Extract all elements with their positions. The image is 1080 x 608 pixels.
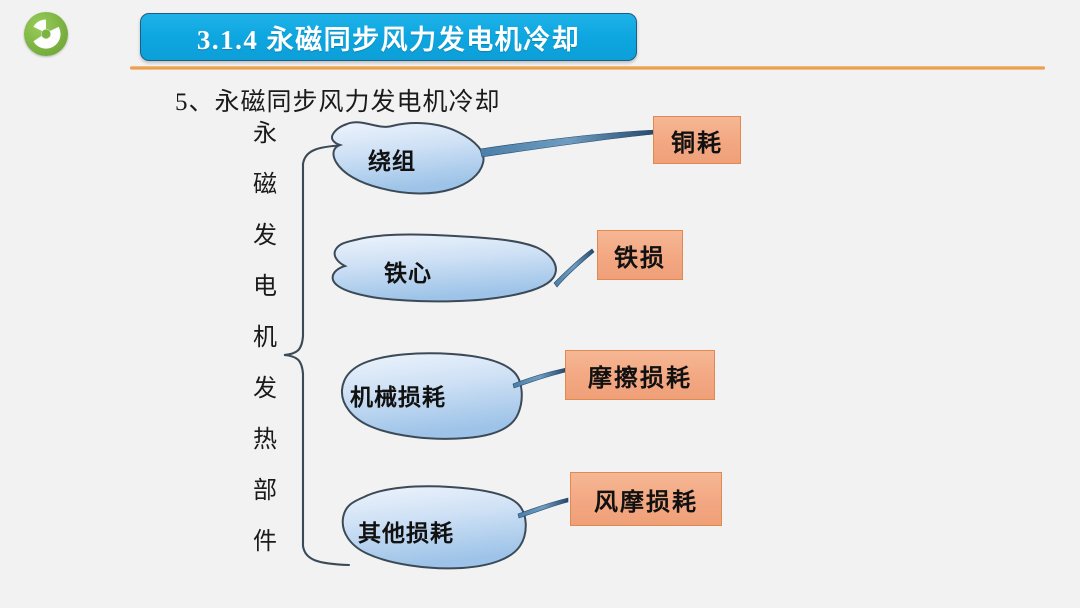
diagram-graphics	[0, 0, 1080, 608]
connector-mechanicalloss-to-frictionloss	[513, 368, 566, 388]
vertical-label-char: 部	[253, 479, 277, 503]
vertical-label-char: 电	[253, 275, 277, 299]
loss-box-label: 摩擦损耗	[588, 358, 692, 393]
blob-label-mechanicalloss: 机械损耗	[350, 378, 446, 412]
page-title: 3.1.4 永磁同步风力发电机冷却	[197, 18, 580, 57]
connector-winding-to-copperloss	[480, 130, 656, 157]
loss-box-windagefrictionloss: 风摩损耗	[570, 472, 722, 526]
slide-title-plate: 3.1.4 永磁同步风力发电机冷却	[140, 13, 637, 61]
component-blob-ironcore	[333, 235, 556, 302]
loss-box-copperloss: 铜耗	[653, 116, 741, 164]
vertical-label-char: 件	[253, 530, 277, 554]
vertical-label-char: 永	[253, 122, 277, 146]
loss-box-frictionloss: 摩擦损耗	[565, 350, 715, 400]
vertical-label-char: 发	[253, 224, 277, 248]
section-subtitle: 5、永磁同步风力发电机冷却	[175, 82, 501, 118]
blob-label-otherloss: 其他损耗	[358, 514, 454, 548]
connector-ironcore-to-ironloss	[554, 249, 594, 287]
header-divider	[130, 66, 1045, 70]
slide-canvas: 3.1.4 永磁同步风力发电机冷却 5、永磁同步风力发电机冷却 永 磁 发 电 …	[0, 0, 1080, 608]
vertical-label-char: 机	[253, 326, 277, 350]
loss-box-label: 铁损	[614, 238, 666, 273]
loss-box-ironloss: 铁损	[597, 230, 683, 280]
connector-otherloss-to-windagefrictionloss	[518, 498, 568, 518]
vertical-label-char: 发	[253, 377, 277, 401]
vertical-label-char: 磁	[253, 173, 277, 197]
blob-label-winding: 绕组	[368, 142, 416, 176]
vertical-label-char: 热	[253, 428, 277, 452]
grouping-brace	[284, 145, 349, 565]
loss-box-label: 风摩损耗	[594, 482, 698, 517]
blob-label-ironcore: 铁心	[384, 254, 432, 288]
vertical-category-label: 永 磁 发 电 机 发 热 部 件	[248, 122, 282, 554]
loss-box-label: 铜耗	[671, 123, 723, 158]
radiation-trefoil-icon	[24, 12, 68, 56]
